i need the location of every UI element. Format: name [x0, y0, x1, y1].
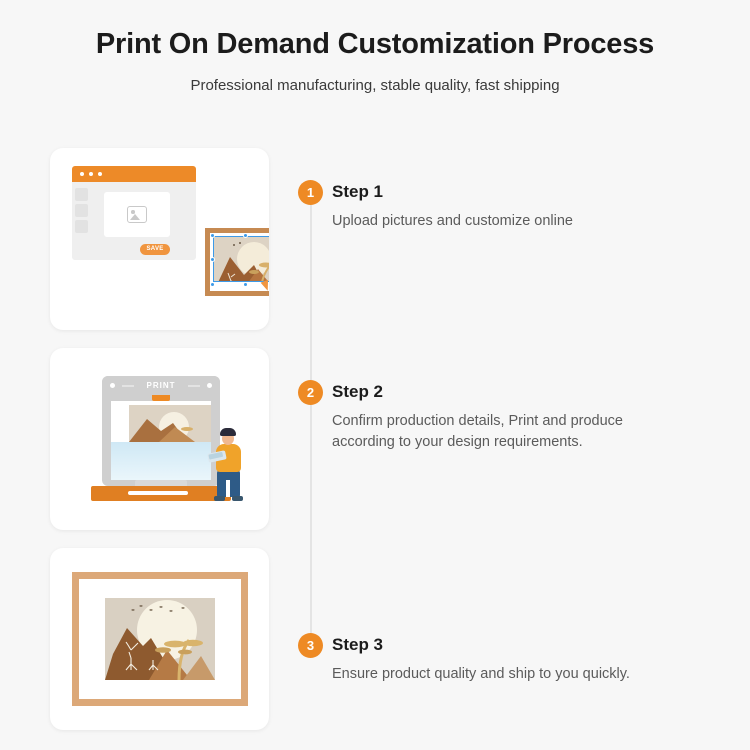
step-2-text: 2 Step 2 Confirm production details, Pri… [298, 380, 728, 453]
mountain-moon-art-small [214, 237, 269, 281]
printer-knob-icon [110, 383, 115, 388]
framed-artwork-image [105, 598, 215, 680]
person-shoe [232, 496, 243, 501]
printed-output-area [111, 401, 211, 480]
water-reflection [111, 442, 211, 480]
printer-dash-decor [188, 385, 200, 387]
browser-dot-icon [89, 172, 93, 176]
page-header: Print On Demand Customization Process Pr… [0, 26, 750, 96]
selection-handle[interactable] [210, 257, 215, 262]
step-row: PRINT [0, 348, 750, 548]
printer-machine: PRINT [102, 376, 220, 486]
step-title: Step 1 [332, 180, 728, 204]
selection-handle[interactable] [243, 282, 248, 287]
browser-upload-illustration: SAVE [50, 148, 269, 330]
moon-mountain-deer-landscape [105, 598, 215, 680]
framed-artwork-illustration [50, 548, 269, 730]
person-legs [217, 470, 240, 497]
worker-with-laptop [208, 426, 252, 504]
step-title: Step 3 [332, 633, 728, 657]
printer-production-illustration: PRINT [50, 348, 269, 530]
step-row: SAVE [0, 148, 750, 348]
step-number-badge: 2 [298, 380, 323, 405]
artwork-thumbnail [214, 237, 269, 281]
sidebar-block [75, 204, 88, 217]
page-title: Print On Demand Customization Process [0, 26, 750, 62]
step-number-badge: 3 [298, 633, 323, 658]
step-title: Step 2 [332, 380, 728, 404]
step-3-text: 3 Step 3 Ensure product quality and ship… [298, 633, 728, 685]
browser-dot-icon [98, 172, 102, 176]
step-row: 3 Step 3 Ensure product quality and ship… [0, 548, 750, 748]
upload-panel[interactable] [104, 192, 170, 237]
steps-list: SAVE [0, 148, 750, 748]
sidebar-block [75, 220, 88, 233]
image-placeholder-icon [127, 206, 147, 223]
sidebar-block [75, 188, 88, 201]
wooden-picture-frame [72, 572, 248, 706]
print-on-demand-process-page: Print On Demand Customization Process Pr… [0, 0, 750, 750]
step-description: Upload pictures and customize online [332, 211, 728, 232]
printer-knob-icon [207, 383, 212, 388]
printed-artwork [129, 405, 211, 442]
arrow-cursor-icon [261, 280, 269, 292]
step-description: Ensure product quality and ship to you q… [332, 664, 728, 685]
mountain-moon-art-print [129, 405, 211, 442]
person-hair [220, 428, 236, 436]
step-description: Confirm production details, Print and pr… [332, 411, 728, 453]
person-shoe [214, 496, 225, 501]
browser-window-mockup: SAVE [72, 166, 210, 270]
save-button[interactable]: SAVE [140, 244, 170, 255]
printer-dash-decor [122, 385, 134, 387]
selected-artwork-frame[interactable] [205, 228, 269, 296]
step-1-illustration-card[interactable]: SAVE [50, 148, 269, 330]
step-2-illustration-card[interactable]: PRINT [50, 348, 269, 530]
step-3-illustration-card[interactable] [50, 548, 269, 730]
page-subtitle: Professional manufacturing, stable quali… [0, 76, 750, 96]
step-1-text: 1 Step 1 Upload pictures and customize o… [298, 180, 728, 232]
printer-label: PRINT [102, 376, 220, 395]
step-number-badge: 1 [298, 180, 323, 205]
selection-handle[interactable] [210, 233, 215, 238]
selection-handle[interactable] [210, 282, 215, 287]
browser-title-bar [72, 166, 196, 182]
browser-dot-icon [80, 172, 84, 176]
browser-content-area: SAVE [72, 182, 196, 260]
printer-output-slot [128, 491, 188, 495]
selection-handle[interactable] [243, 233, 248, 238]
